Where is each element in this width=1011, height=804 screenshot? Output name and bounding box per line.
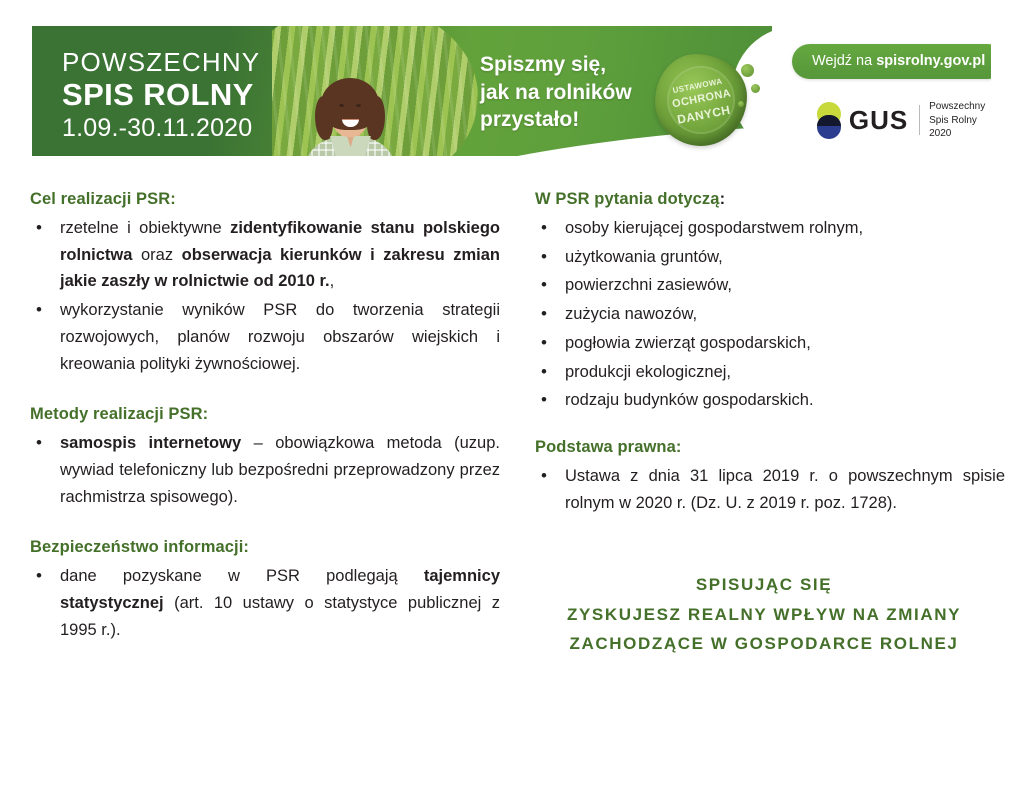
banner-date-range: 1.09.-30.11.2020: [62, 115, 260, 142]
heading-w-psr-pytania-text: W PSR pytania dotyczą: [535, 190, 720, 208]
left-column: Cel realizacji PSR: rzetelne i obiektywn…: [30, 190, 500, 658]
gus-mark-icon: [814, 100, 843, 140]
heading-w-psr-pytania: W PSR pytania dotyczą:: [535, 190, 1005, 209]
content-columns: Cel realizacji PSR: rzetelne i obiektywn…: [0, 190, 1011, 658]
list-item: samospis internetowy – obowiązkowa metod…: [30, 430, 500, 510]
right-column: W PSR pytania dotyczą: osoby kierującej …: [535, 190, 1005, 658]
banner-title-line1: POWSZECHNY: [62, 48, 260, 76]
list-item: rodzaju budynków gospodarskich.: [535, 387, 1005, 414]
list-item: pogłowia zwierząt gospodarskich,: [535, 330, 1005, 357]
banner-title-block: POWSZECHNY SPIS ROLNY 1.09.-30.11.2020: [62, 48, 260, 142]
closing-slogan: SPISUJĄC SIĘ ZYSKUJESZ REALNY WPŁYW NA Z…: [535, 570, 1005, 658]
heading-podstawa-prawna: Podstawa prawna:: [535, 438, 1005, 457]
banner-slogan-line1: Spiszmy się,: [480, 51, 632, 79]
photo-circle-mask: [272, 26, 478, 156]
banner-slogan-line2: jak na rolników: [480, 79, 632, 107]
list-item: produkcji ekologicznej,: [535, 359, 1005, 386]
gus-logo-subtitle: Powszechny Spis Rolny 2020: [929, 100, 991, 141]
list-item: rzetelne i obiektywne zidentyfikowanie s…: [30, 215, 500, 295]
banner-slogan-line3: przystało!: [480, 106, 632, 134]
gus-logo-divider: [919, 105, 920, 135]
closing-slogan-line2: ZYSKUJESZ REALNY WPŁYW NA ZMIANY: [535, 600, 993, 629]
cta-prefix-label: Wejdź na: [812, 53, 876, 69]
list-cel-realizacji: rzetelne i obiektywne zidentyfikowanie s…: [30, 215, 500, 377]
gus-subtitle-line2: Spis Rolny 2020: [929, 114, 991, 141]
list-podstawa-prawna: Ustawa z dnia 31 lipca 2019 r. o powszec…: [535, 463, 1005, 516]
heading-metody-realizacji: Metody realizacji PSR:: [30, 405, 500, 424]
closing-slogan-line3: ZACHODZĄCE W GOSPODARCE ROLNEJ: [535, 629, 993, 658]
list-w-psr-pytania: osoby kierującej gospodarstwem rolnym, u…: [535, 215, 1005, 414]
gus-wordmark: GUS: [849, 105, 908, 136]
seal-droplet-medium: [751, 84, 760, 93]
list-item: dane pozyskane w PSR podlegają tajemnicy…: [30, 563, 500, 643]
list-bezpieczenstwo-informacji: dane pozyskane w PSR podlegają tajemnicy…: [30, 563, 500, 643]
list-item: osoby kierującej gospodarstwem rolnym,: [535, 215, 1005, 242]
heading-w-psr-pytania-colon: :: [720, 190, 726, 208]
banner-slogan: Spiszmy się, jak na rolników przystało!: [480, 51, 632, 134]
cta-website-button[interactable]: Wejdź na spisrolny.gov.pl: [792, 44, 991, 79]
heading-bezpieczenstwo-informacji: Bezpieczeństwo informacji:: [30, 538, 500, 557]
list-item: Ustawa z dnia 31 lipca 2019 r. o powszec…: [535, 463, 1005, 516]
farmer-photo: [272, 26, 478, 156]
heading-cel-realizacji: Cel realizacji PSR:: [30, 190, 500, 209]
psr-banner: POWSZECHNY SPIS ROLNY 1.09.-30.11.2020 S…: [32, 26, 991, 156]
banner-title-line2: SPIS ROLNY: [62, 78, 260, 111]
closing-slogan-line1: SPISUJĄC SIĘ: [535, 570, 993, 599]
farmer-woman-illustration: [298, 78, 402, 156]
data-protection-seal-icon: USTAWOWA OCHRONA DANYCH: [655, 54, 747, 146]
cta-url-label: spisrolny.gov.pl: [876, 53, 985, 69]
list-metody-realizacji: samospis internetowy – obowiązkowa metod…: [30, 430, 500, 510]
list-item: powierzchni zasiewów,: [535, 272, 1005, 299]
seal-droplet-large: [741, 64, 754, 77]
list-item: wykorzystanie wyników PSR do tworzenia s…: [30, 297, 500, 377]
seal-droplet-small: [738, 101, 744, 107]
list-item: zużycia nawozów,: [535, 301, 1005, 328]
gus-logo: GUS Powszechny Spis Rolny 2020: [814, 100, 991, 141]
list-item: użytkowania gruntów,: [535, 244, 1005, 271]
gus-subtitle-line1: Powszechny: [929, 100, 991, 114]
